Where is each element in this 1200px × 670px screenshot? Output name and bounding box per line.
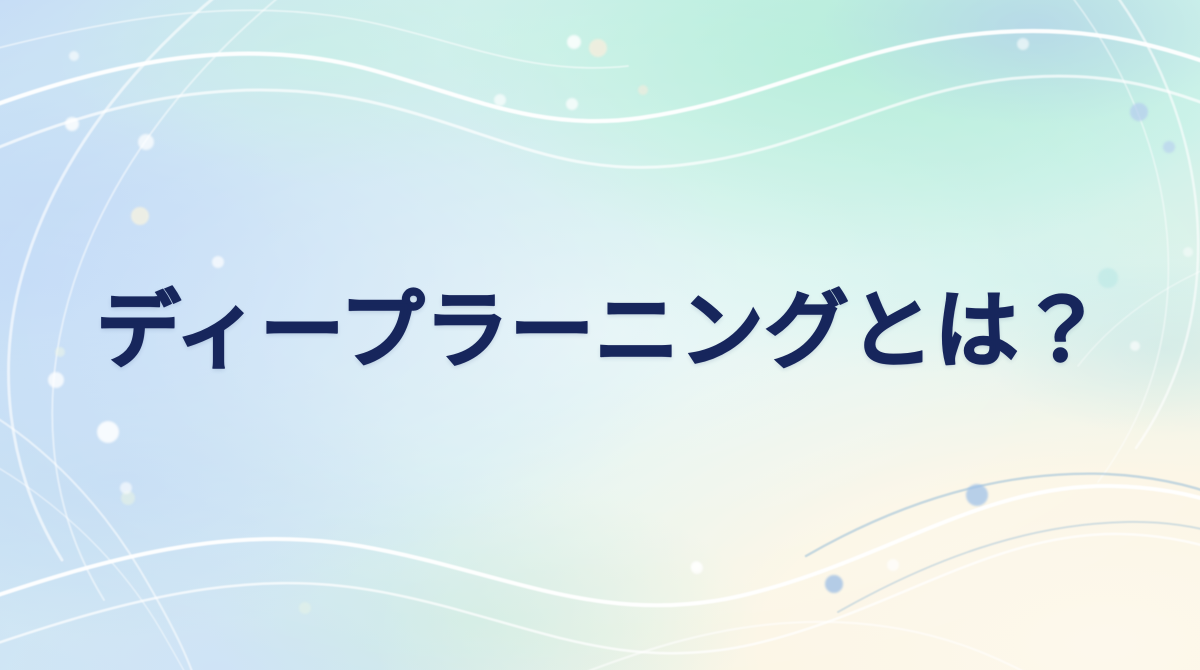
dot-9 (138, 134, 154, 150)
ribbon-left-arc-4 (0, 452, 202, 670)
ribbon-top-main (0, 31, 1200, 121)
dot-24 (887, 559, 899, 571)
ribbon-bot-main (0, 486, 1200, 608)
title-block: ディープラーニングとは？ (0, 268, 1200, 394)
ribbon-bot-second (0, 534, 1200, 656)
dot-4 (212, 256, 224, 268)
dot-8 (121, 491, 135, 505)
dot-11 (566, 98, 578, 110)
dot-6 (97, 421, 119, 443)
ribbon-bot-accent2 (838, 522, 1200, 612)
dot-25 (299, 602, 311, 614)
dot-17 (1163, 141, 1175, 153)
dot-16 (1130, 103, 1148, 121)
dot-20 (966, 484, 988, 506)
dot-22 (691, 562, 703, 574)
ribbon-right-arc-2 (1062, 0, 1168, 482)
dot-14 (638, 85, 648, 95)
ribbon-bot-accent (806, 474, 1200, 556)
page-title: ディープラーニングとは？ (96, 287, 1104, 376)
ribbon-top-thin (0, 10, 628, 68)
dot-26 (120, 482, 132, 494)
ribbon-bot-low (540, 622, 1060, 670)
slide-canvas: ディープラーニングとは？ (0, 0, 1200, 670)
ribbon-top-second (0, 76, 1200, 167)
dot-15 (1017, 38, 1029, 50)
dot-13 (589, 39, 607, 57)
dot-10 (567, 35, 581, 49)
dot-3 (69, 51, 79, 61)
dot-21 (825, 575, 843, 593)
dot-1 (65, 117, 79, 131)
dot-27 (1183, 247, 1193, 257)
dot-12 (494, 94, 506, 106)
ribbon-left-arc-3 (0, 402, 198, 670)
dot-2 (131, 207, 149, 225)
dot-23 (691, 561, 701, 571)
